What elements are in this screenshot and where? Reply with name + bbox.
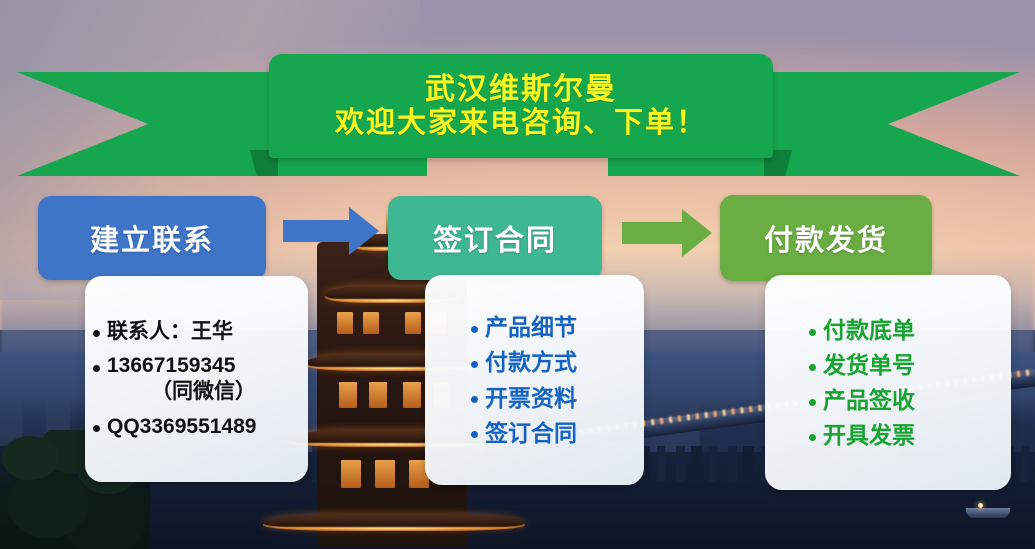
bullet-dot-icon xyxy=(471,431,478,438)
bullet-dot-icon xyxy=(471,326,478,333)
stage3-bullet-3: 产品签收 xyxy=(823,386,1003,414)
ribbon-banner: 武汉维斯尔曼 欢迎大家来电咨询、下单！ xyxy=(0,0,1035,190)
tower-window xyxy=(363,312,379,334)
stage1-bullet-phone-wrap: 13667159345 （同微信） xyxy=(107,353,300,404)
bullet-dot-icon xyxy=(471,396,478,403)
stage3-bullet-list: 付款底单 发货单号 产品签收 开具发票 xyxy=(773,316,1003,449)
arrow-head xyxy=(682,209,712,257)
list-item: 13667159345 （同微信） xyxy=(93,353,300,404)
tower-window xyxy=(375,460,395,488)
stage2-bullet-4: 签订合同 xyxy=(485,419,636,447)
boat-light xyxy=(978,503,983,508)
bullet-dot-icon xyxy=(809,434,816,441)
list-item: 产品签收 xyxy=(809,386,1003,414)
tower-window xyxy=(339,382,357,408)
tower-window xyxy=(405,312,421,334)
stage3-title: 付款发货 xyxy=(764,217,888,259)
bullet-dot-icon xyxy=(809,364,816,371)
ribbon-center-panel: 武汉维斯尔曼 欢迎大家来电咨询、下单！ xyxy=(269,54,773,158)
stage2-bullet-list: 产品细节 付款方式 开票资料 签订合同 xyxy=(433,313,636,446)
list-item: 签订合同 xyxy=(471,419,636,447)
tower-eave xyxy=(263,514,525,529)
promo-poster: 武汉维斯尔曼 欢迎大家来电咨询、下单！ 建立联系 联系人：王华 13667159… xyxy=(0,0,1035,549)
stage3-content-card: 付款底单 发货单号 产品签收 开具发票 xyxy=(765,275,1011,490)
tower-window xyxy=(341,460,361,488)
stage2-header: 签订合同 xyxy=(388,196,602,280)
list-item: QQ3369551489 xyxy=(93,414,300,440)
arrow-shaft xyxy=(622,222,686,244)
banner-subtitle: 欢迎大家来电咨询、下单！ xyxy=(335,107,707,139)
bullet-dot-icon xyxy=(93,330,100,337)
bullet-dot-icon xyxy=(93,365,100,372)
arrow-head xyxy=(349,207,379,255)
stage3-bullet-2: 发货单号 xyxy=(823,351,1003,379)
stage3-bullet-1: 付款底单 xyxy=(823,316,1003,344)
list-item: 开票资料 xyxy=(471,384,636,412)
tower-window xyxy=(369,382,387,408)
stage1-bullet-contact: 联系人：王华 xyxy=(107,319,300,345)
stage2-bullet-1: 产品细节 xyxy=(485,313,636,341)
bullet-dot-icon xyxy=(471,361,478,368)
list-item: 发货单号 xyxy=(809,351,1003,379)
stage3-bullet-4: 开具发票 xyxy=(823,421,1003,449)
bullet-dot-icon xyxy=(93,425,100,432)
list-item: 联系人：王华 xyxy=(93,319,300,345)
river-boat xyxy=(966,508,1010,518)
stage1-content-card: 联系人：王华 13667159345 （同微信） QQ3369551489 xyxy=(85,276,308,482)
stage1-header: 建立联系 xyxy=(38,196,266,280)
list-item: 开具发票 xyxy=(809,421,1003,449)
list-item: 产品细节 xyxy=(471,313,636,341)
arrow-stage1-to-stage2-icon xyxy=(283,207,379,255)
list-item: 付款底单 xyxy=(809,316,1003,344)
arrow-shaft xyxy=(283,220,353,242)
stage1-bullet-qq: QQ3369551489 xyxy=(107,414,300,440)
stage2-title: 签订合同 xyxy=(433,217,557,259)
stage1-title: 建立联系 xyxy=(90,217,214,259)
stage2-bullet-2: 付款方式 xyxy=(485,348,636,376)
company-name: 武汉维斯尔曼 xyxy=(425,73,617,107)
stage1-bullet-phone: 13667159345 xyxy=(107,354,235,377)
bullet-dot-icon xyxy=(809,399,816,406)
tower-window xyxy=(403,382,421,408)
bullet-dot-icon xyxy=(809,329,816,336)
stage1-bullet-list: 联系人：王华 13667159345 （同微信） QQ3369551489 xyxy=(93,319,300,439)
arrow-stage2-to-stage3-icon xyxy=(622,209,712,257)
stage2-bullet-3: 开票资料 xyxy=(485,384,636,412)
list-item: 付款方式 xyxy=(471,348,636,376)
tower-window xyxy=(337,312,353,334)
stage1-bullet-phone-note: （同微信） xyxy=(107,379,300,405)
stage2-content-card: 产品细节 付款方式 开票资料 签订合同 xyxy=(425,275,644,485)
stage3-header: 付款发货 xyxy=(720,195,932,281)
